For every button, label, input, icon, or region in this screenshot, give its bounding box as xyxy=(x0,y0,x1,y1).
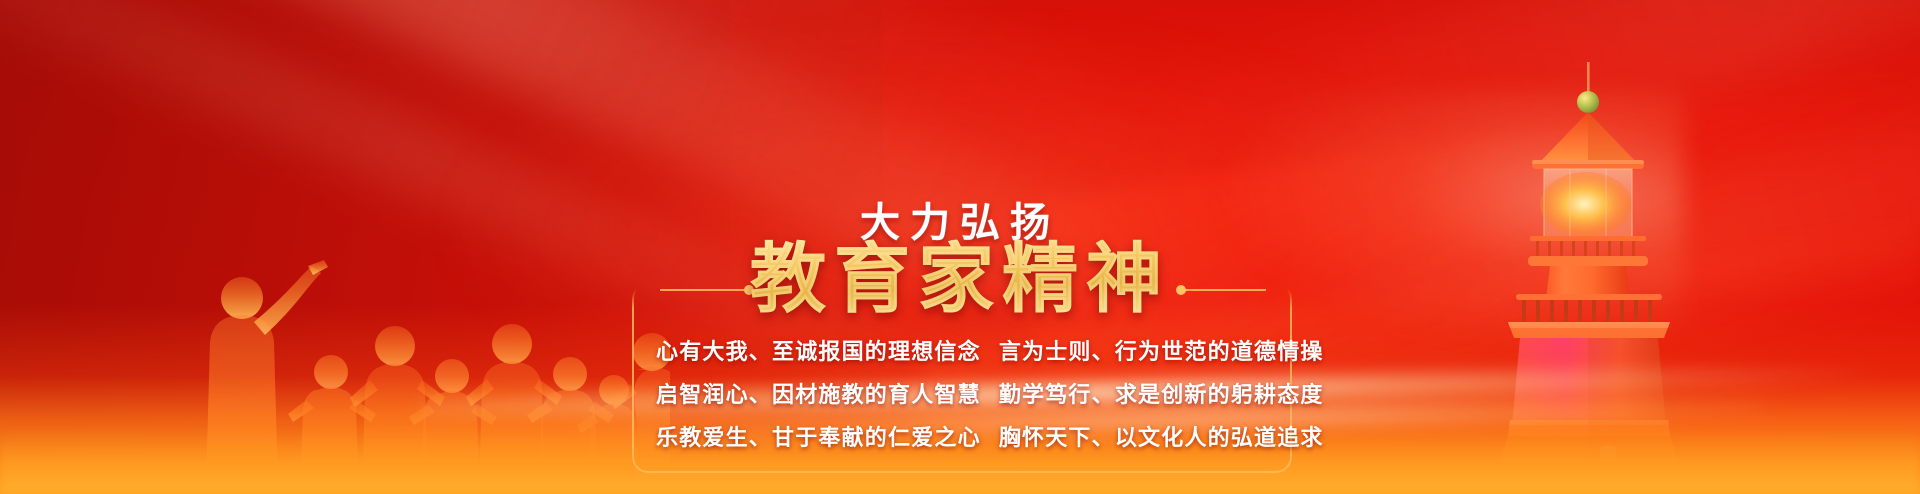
verse-right: 胸怀天下、以文化人的弘道追求 xyxy=(999,420,1324,452)
verse-row: 心有大我、至诚报国的理想信念 言为士则、行为世范的道德情操 xyxy=(656,334,1268,366)
verse-left: 启智润心、因材施教的育人智慧 xyxy=(656,377,981,409)
verse-left: 乐教爱生、甘于奉献的仁爱之心 xyxy=(656,420,981,452)
verse-row: 启智润心、因材施教的育人智慧 勤学笃行、求是创新的躬耕态度 xyxy=(656,377,1268,409)
verse-row: 乐教爱生、甘于奉献的仁爱之心 胸怀天下、以文化人的弘道追求 xyxy=(656,420,1268,452)
verse-right: 勤学笃行、求是创新的躬耕态度 xyxy=(999,377,1324,409)
verse-left: 心有大我、至诚报国的理想信念 xyxy=(656,334,981,366)
headline-text: 教育家精神 xyxy=(0,240,1920,320)
education-spirit-banner: 大力弘扬 教育家精神 心有大我、至诚报国的理想信念 言为士则、行为世范的道德情操… xyxy=(0,0,1920,494)
verse-right: 言为士则、行为世范的道德情操 xyxy=(999,334,1324,366)
verse-list: 心有大我、至诚报国的理想信念 言为士则、行为世范的道德情操 启智润心、因材施教的… xyxy=(632,334,1292,452)
